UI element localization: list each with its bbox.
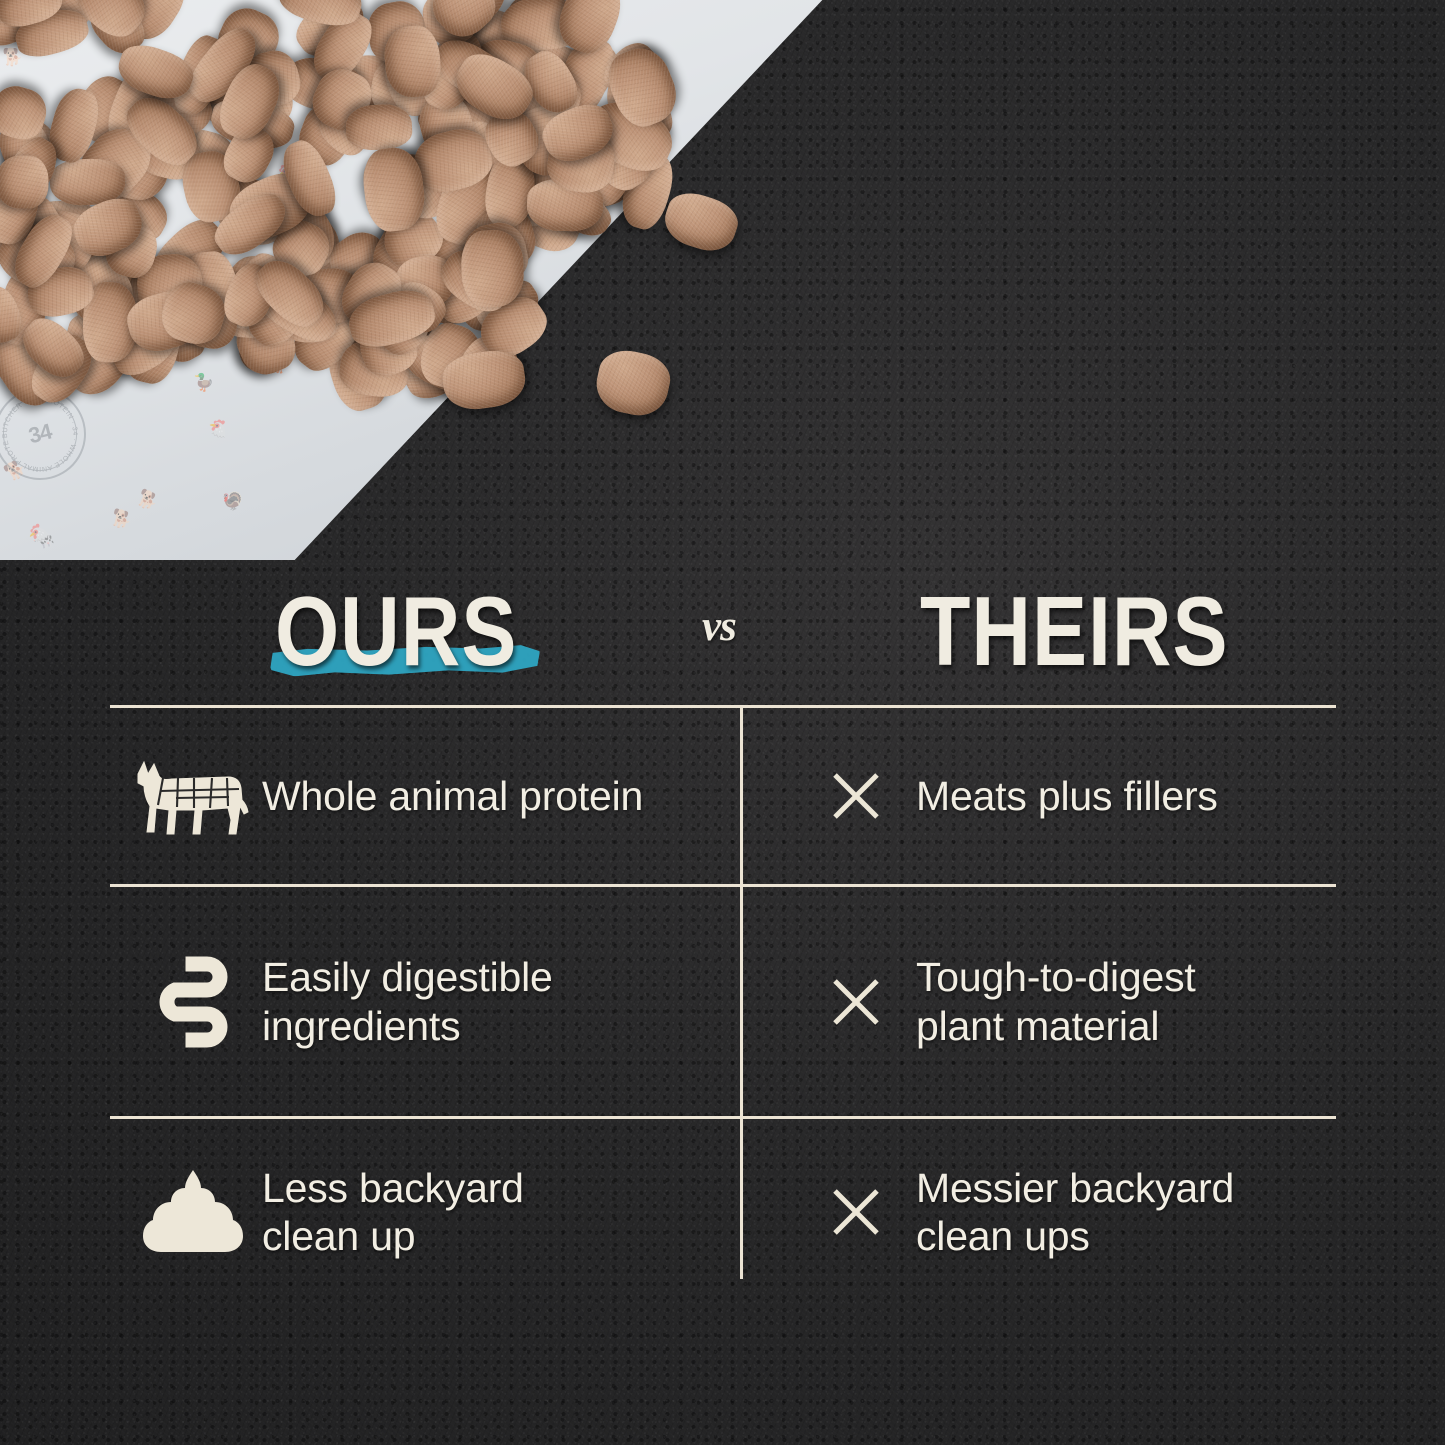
theirs-label-line-1: Messier backyard [916, 1164, 1234, 1212]
poop-icon [124, 1166, 262, 1258]
kibble-photo: 🐄🐕🦃🐔🦆🐄🐕🦃🐔🦆🐄🐕🦃🐔🦆🐄🐕🦃🐔🦆🐄🐕🦃🐔🦆🐄🐕🦃🐔🦆🐄🐕🦃🐔 BUTCH… [0, 0, 830, 560]
ours-label-line-2: ingredients [262, 1002, 553, 1050]
paper-animal-glyph: 🦃 [221, 491, 245, 512]
kibble-pellet [0, 155, 48, 209]
kibble-pellet [591, 345, 674, 421]
kibble-pellet [345, 104, 413, 152]
ours-label-line-1: Less backyard [262, 1164, 524, 1212]
paper-animal-glyph: 🐕 [134, 488, 161, 513]
table-row: Whole animal protein Meats plus fillers [110, 708, 1336, 887]
paper-animal-glyph: 🦆 [193, 374, 214, 391]
comparison-grid: Whole animal protein Meats plus fillers [110, 705, 1336, 1305]
ours-label-line-1: Easily digestible [262, 953, 553, 1001]
x-mark-icon [830, 976, 916, 1028]
intestine-icon [124, 954, 262, 1050]
theirs-label: Tough-to-digest plant material [916, 953, 1196, 1050]
cell-theirs: Meats plus fillers [740, 708, 1336, 884]
kibble-pellet [460, 230, 524, 308]
column-divider [740, 708, 743, 884]
kibble-pellet [659, 186, 744, 258]
cell-ours: Easily digestible ingredients [110, 887, 740, 1116]
theirs-label-line-1: Tough-to-digest [916, 953, 1196, 1001]
comparison-table: OURS vs THEIRS [110, 560, 1336, 1305]
paper-animal-glyph: 🐔 [205, 417, 231, 440]
column-divider [740, 1119, 743, 1279]
cell-ours: Less backyard clean up [110, 1119, 740, 1305]
column-divider [740, 887, 743, 1116]
table-row: Easily digestible ingredients [110, 887, 1336, 1119]
paper-animal-glyph: 🐕 [109, 508, 135, 531]
cell-theirs: Messier backyard clean ups [740, 1119, 1336, 1305]
x-mark-icon [830, 1186, 916, 1238]
heading-theirs: THEIRS [920, 576, 1229, 689]
ours-label: Whole animal protein [262, 772, 643, 820]
x-mark-icon [830, 770, 916, 822]
cell-ours: Whole animal protein [110, 708, 740, 884]
theirs-label-line-2: plant material [916, 1002, 1196, 1050]
theirs-label: Meats plus fillers [916, 772, 1218, 820]
heading-ours: OURS [275, 576, 517, 689]
theirs-label: Messier backyard clean ups [916, 1164, 1234, 1261]
ours-label: Less backyard clean up [262, 1164, 524, 1261]
ours-label: Easily digestible ingredients [262, 953, 553, 1050]
theirs-label-line-2: clean ups [916, 1212, 1234, 1260]
cow-butcher-cuts-icon [124, 750, 262, 842]
product-comparison-image: 🐄🐕🦃🐔🦆🐄🐕🦃🐔🦆🐄🐕🦃🐔🦆🐄🐕🦃🐔🦆🐄🐕🦃🐔🦆🐄🐕🦃🐔🦆🐄🐕🦃🐔 BUTCH… [0, 0, 1445, 1445]
heading-vs: vs [702, 602, 736, 651]
ours-label-line-2: clean up [262, 1212, 524, 1260]
table-row: Less backyard clean up [110, 1119, 1336, 1305]
cell-theirs: Tough-to-digest plant material [740, 887, 1336, 1116]
comparison-headings: OURS vs THEIRS [110, 560, 1336, 705]
